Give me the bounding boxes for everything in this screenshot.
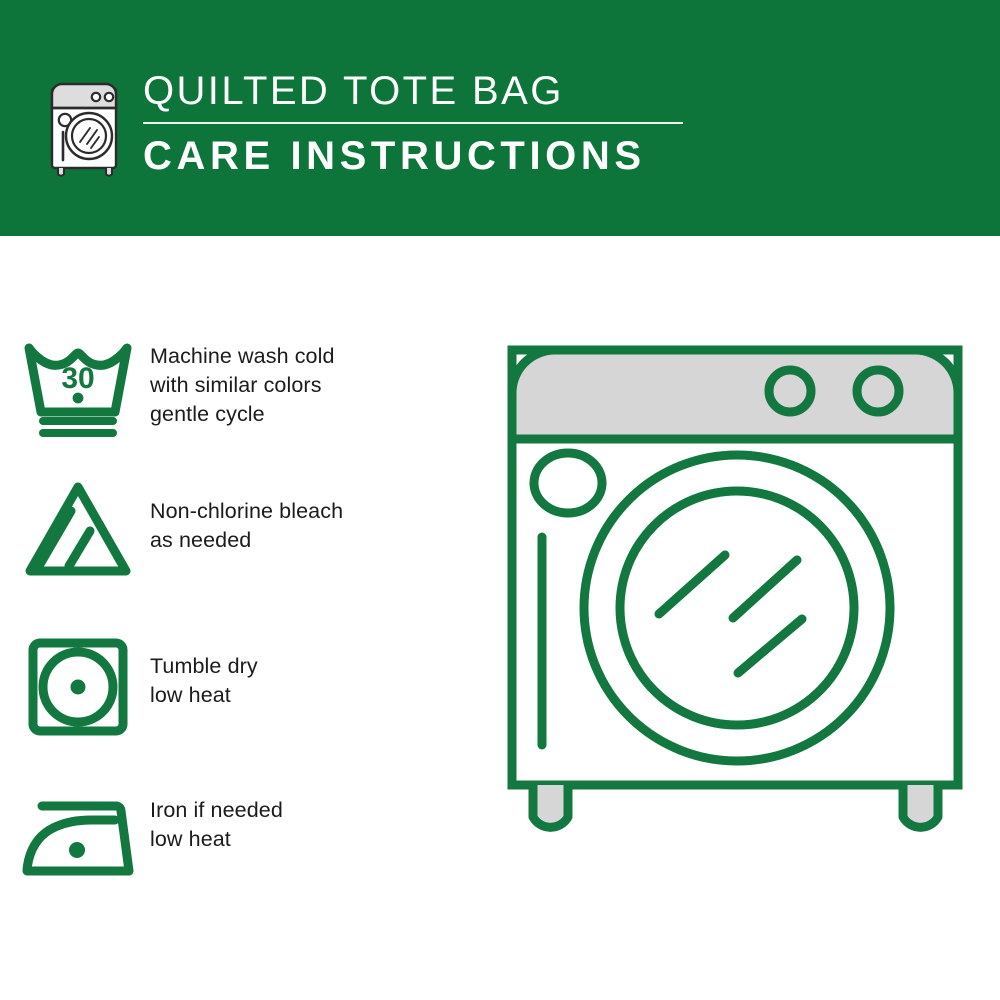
page-subtitle: CARE INSTRUCTIONS xyxy=(143,133,703,179)
care-symbol-list: 30 Machine wash cold with similar colors… xyxy=(0,236,470,1000)
tumble-dry-icon xyxy=(0,634,150,738)
leg xyxy=(903,785,938,827)
knob xyxy=(769,370,811,412)
care-item-label: Iron if needed low heat xyxy=(150,786,283,854)
front-load-washing-machine-illustration xyxy=(485,325,985,935)
care-item-iron: Iron if needed low heat xyxy=(0,786,470,882)
bleach-triangle-icon xyxy=(0,477,150,581)
care-item-bleach: Non-chlorine bleach as needed xyxy=(0,477,470,581)
wash-temp-value: 30 xyxy=(61,362,94,395)
header-banner: QUILTED TOTE BAG CARE INSTRUCTIONS xyxy=(0,0,1000,236)
care-item-tumble-dry: Tumble dry low heat xyxy=(0,634,470,738)
page-title: QUILTED TOTE BAG xyxy=(143,68,703,114)
header-title-block: QUILTED TOTE BAG CARE INSTRUCTIONS xyxy=(143,68,703,179)
knob xyxy=(857,370,899,412)
title-divider xyxy=(143,122,683,124)
dial xyxy=(534,453,602,513)
wash-tub-icon: 30 xyxy=(0,336,150,440)
care-item-label: Machine wash cold with similar colors ge… xyxy=(150,336,335,429)
door-inner-ring xyxy=(620,491,854,725)
care-item-machine-wash: 30 Machine wash cold with similar colors… xyxy=(0,336,470,440)
iron-icon xyxy=(0,786,150,882)
leg xyxy=(533,785,568,827)
care-item-label: Non-chlorine bleach as needed xyxy=(150,477,343,555)
care-instructions-infographic: QUILTED TOTE BAG CARE INSTRUCTIONS 30 Ma… xyxy=(0,0,1000,1000)
washing-machine-icon xyxy=(44,72,128,178)
care-item-label: Tumble dry low heat xyxy=(150,634,258,710)
